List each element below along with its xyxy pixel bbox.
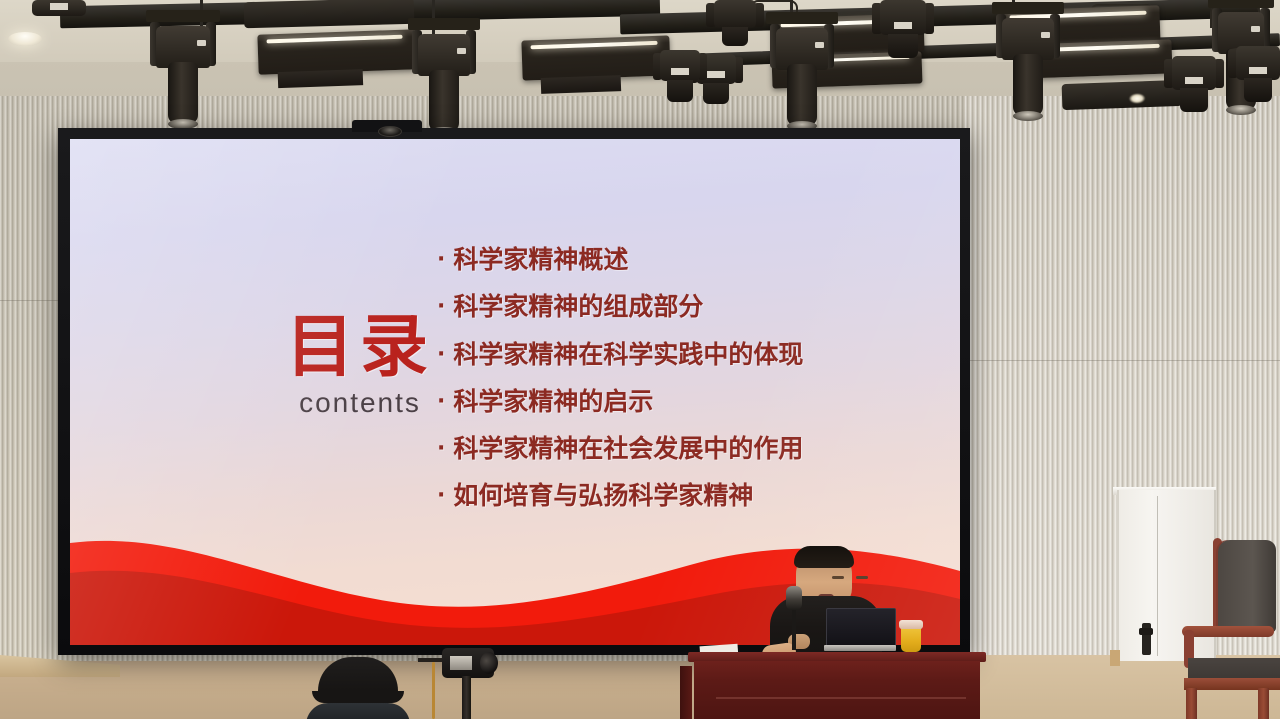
podium-side — [680, 666, 692, 719]
cap-brim — [312, 691, 404, 703]
laptop-keyboard[interactable] — [824, 645, 896, 651]
list-item: · 科学家精神的组成部分 — [437, 294, 937, 320]
list-item: · 科学家精神在科学实践中的体现 — [437, 342, 937, 368]
moving-head-spotlight — [996, 14, 1060, 128]
tripod-post — [462, 676, 471, 719]
list-item-label: 科学家精神的组成部分 — [453, 294, 703, 320]
wall-seam-left — [0, 300, 60, 301]
cup-lid — [899, 620, 923, 629]
chair-backrest — [1218, 540, 1276, 632]
podium-groove — [716, 697, 966, 699]
podium — [688, 652, 986, 719]
par-light-fixture — [1172, 56, 1216, 112]
list-item: · 如何培育与弘扬科学家精神 — [437, 483, 937, 509]
bullet-icon: · — [437, 391, 445, 413]
person-shoulders — [306, 703, 410, 719]
list-item-label: 科学家精神在科学实践中的体现 — [453, 342, 803, 368]
moving-head-spotlight — [770, 24, 834, 136]
list-item-label: 科学家精神在社会发展中的作用 — [453, 436, 803, 462]
par-light-fixture — [32, 0, 86, 26]
presenter-hair — [794, 546, 854, 568]
bullet-icon: · — [437, 296, 445, 318]
chair-armrest — [1182, 626, 1274, 637]
chair-leg — [1258, 688, 1269, 719]
wall-seam — [965, 360, 1280, 361]
list-item: · 科学家精神的启示 — [437, 389, 937, 415]
camera-lens-icon — [378, 126, 402, 137]
led-light-bar — [257, 29, 416, 74]
door-handle-icon[interactable] — [1142, 623, 1151, 655]
person-in-black-cap — [310, 657, 406, 719]
list-item: · 科学家精神概述 — [437, 247, 937, 273]
list-item: · 科学家精神在社会发展中的作用 — [437, 436, 937, 462]
lecture-hall-scene: 目录 contents · 科学家精神概述 · 科学家精神的组成部分 · 科学家… — [0, 0, 1280, 719]
bullet-icon: · — [437, 344, 445, 366]
door-seam — [1157, 496, 1158, 656]
par-light-fixture — [714, 0, 756, 46]
yellow-cup — [901, 620, 921, 652]
video-camera-tripod — [418, 648, 498, 719]
par-light-fixture — [660, 50, 700, 102]
laptop[interactable] — [824, 608, 896, 652]
moving-head-spotlight — [150, 22, 216, 132]
par-light-fixture — [880, 0, 926, 58]
wooden-armchair — [1182, 540, 1280, 719]
podium-front-panel — [694, 661, 980, 719]
led-light-bar — [521, 35, 670, 80]
camera-cable — [432, 662, 435, 719]
camera-monitor — [450, 656, 472, 670]
bullet-icon: · — [437, 438, 445, 460]
chair-leg — [1186, 688, 1197, 719]
bullet-icon: · — [437, 249, 445, 271]
fresnel-fixture — [244, 0, 415, 28]
list-item-label: 如何培育与弘扬科学家精神 — [453, 483, 753, 509]
bullet-icon: · — [437, 485, 445, 507]
laptop-screen — [826, 608, 896, 648]
slide-contents-list: · 科学家精神概述 · 科学家精神的组成部分 · 科学家精神在科学实践中的体现 … — [437, 247, 937, 531]
recessed-downlight-icon — [8, 32, 42, 46]
microphone-capsule — [786, 586, 802, 610]
list-item-label: 科学家精神概述 — [453, 247, 628, 273]
par-light-fixture — [1236, 46, 1280, 102]
camera-lens-icon — [480, 652, 498, 674]
door-kickplate — [1110, 650, 1120, 666]
microphone — [786, 586, 802, 648]
list-item-label: 科学家精神的启示 — [453, 389, 653, 415]
